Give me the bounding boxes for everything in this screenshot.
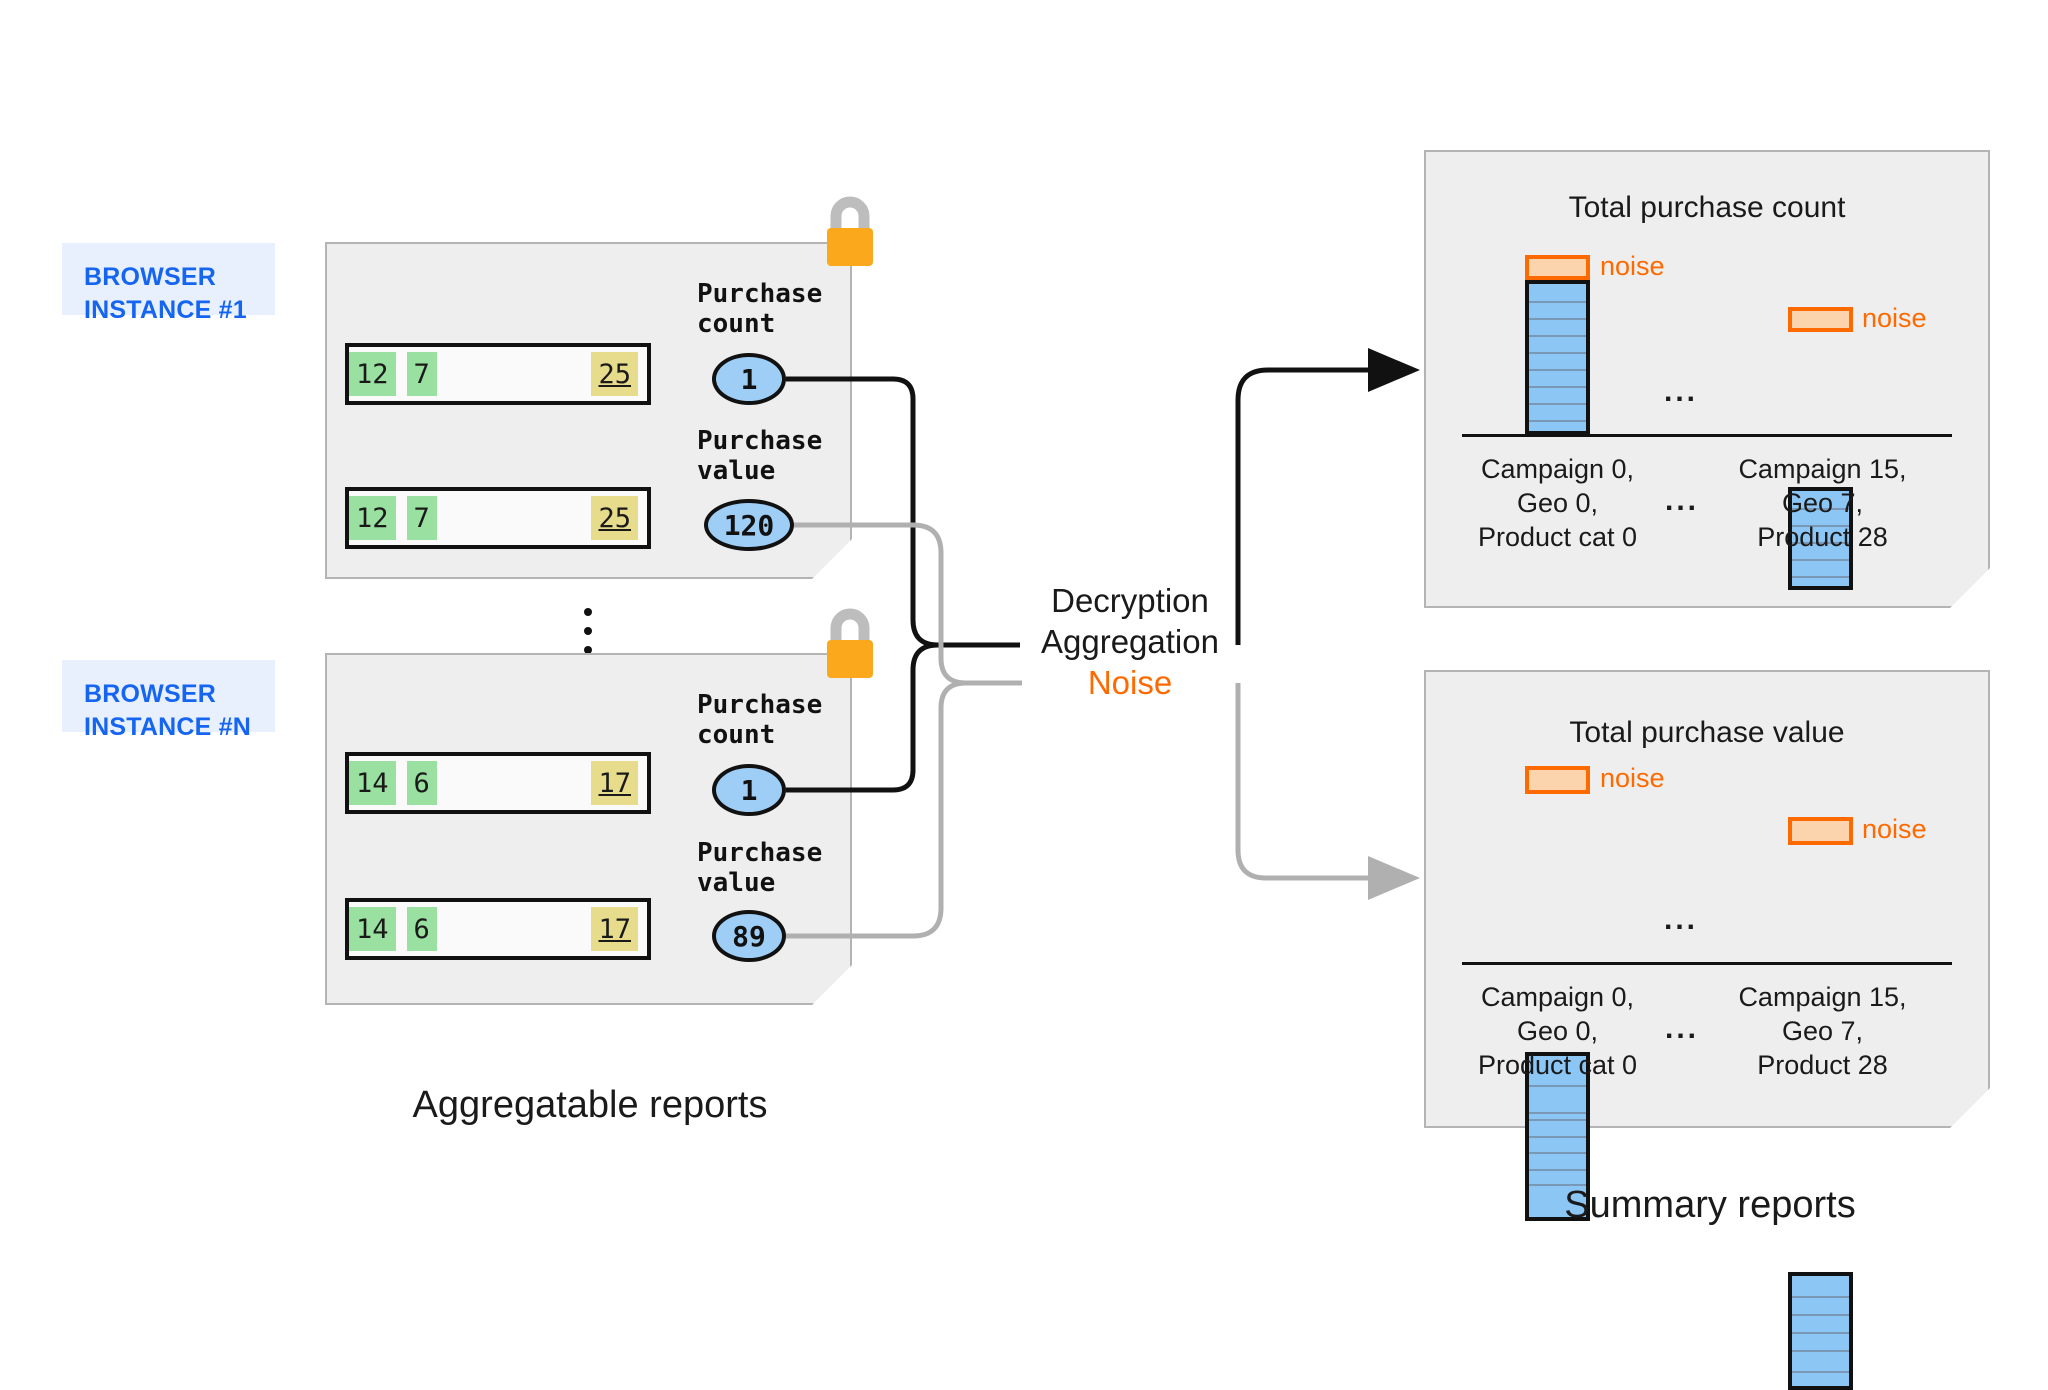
report-cell-value: 25 xyxy=(591,352,638,396)
lock-icon xyxy=(818,602,882,686)
chart-ellipsis-value-bars: ... xyxy=(1664,905,1698,935)
report-cell-key-a: 12 xyxy=(349,352,396,396)
noise-label-count-bar2: noise xyxy=(1862,303,1927,333)
noise-box-count-bar1 xyxy=(1525,255,1590,280)
report-cell-key-b: 7 xyxy=(407,352,437,396)
noise-box-count-bar2 xyxy=(1788,307,1853,332)
chart-title-purchase-count: Total purchase count xyxy=(1424,190,1990,226)
noise-box-value-bar2 xyxy=(1788,817,1853,845)
noise-label-value-bar1: noise xyxy=(1600,763,1665,793)
process-line-noise: Noise xyxy=(1020,662,1240,703)
aggregatable-reports-caption: Aggregatable reports xyxy=(305,1080,875,1130)
report-cell-key-b: 7 xyxy=(407,496,437,540)
process-line-decryption: Decryption xyxy=(1020,580,1240,621)
metric-bubble-purchase-count-1: 1 xyxy=(712,353,786,405)
report-row: 14 6 17 xyxy=(345,898,651,960)
chart-bar-count-1 xyxy=(1525,280,1590,435)
report-row: 12 7 25 xyxy=(345,343,651,405)
summary-reports-caption: Summary reports xyxy=(1430,1180,1990,1230)
report-row: 14 6 17 xyxy=(345,752,651,814)
metric-label-purchase-value-1: Purchase value xyxy=(697,426,877,486)
chart-bar-value-2 xyxy=(1788,1272,1853,1390)
process-line-aggregation: Aggregation xyxy=(1020,621,1240,662)
chart-ellipsis-count-labels: ... xyxy=(1665,486,1699,516)
report-cell-value: 17 xyxy=(591,761,638,805)
chart-title-purchase-value: Total purchase value xyxy=(1424,715,1990,751)
report-cell-value: 25 xyxy=(591,496,638,540)
chart-category-count-2: Campaign 15, Geo 7, Product 28 xyxy=(1725,452,1920,554)
metric-bubble-purchase-value-1: 120 xyxy=(704,499,794,551)
report-cell-key-b: 6 xyxy=(407,761,437,805)
process-label: Decryption Aggregation Noise xyxy=(1020,580,1240,703)
chart-axis-value xyxy=(1462,962,1952,965)
lock-icon xyxy=(818,190,882,274)
metric-bubble-purchase-value-n: 89 xyxy=(712,910,786,962)
chart-category-value-1: Campaign 0, Geo 0, Product cat 0 xyxy=(1460,980,1655,1082)
metric-bubble-purchase-count-n: 1 xyxy=(712,764,786,816)
report-cell-key-a: 14 xyxy=(349,761,396,805)
chart-ellipsis-count-bars: ... xyxy=(1664,377,1698,407)
noise-label-value-bar2: noise xyxy=(1862,814,1927,844)
metric-label-purchase-value-n: Purchase value xyxy=(697,838,877,898)
noise-box-value-bar1 xyxy=(1525,766,1590,794)
report-cell-key-b: 6 xyxy=(407,907,437,951)
report-row: 12 7 25 xyxy=(345,487,651,549)
chart-category-count-1: Campaign 0, Geo 0, Product cat 0 xyxy=(1460,452,1655,554)
metric-label-purchase-count-n: Purchase count xyxy=(697,690,877,750)
browser-instance-n-tag: BROWSER INSTANCE #N xyxy=(62,660,275,732)
metric-label-purchase-count-1: Purchase count xyxy=(697,279,877,339)
browser-instance-1-tag: BROWSER INSTANCE #1 xyxy=(62,243,275,315)
vertical-ellipsis-icon xyxy=(583,608,593,654)
report-cell-key-a: 12 xyxy=(349,496,396,540)
report-cell-key-a: 14 xyxy=(349,907,396,951)
report-cell-value: 17 xyxy=(591,907,638,951)
noise-label-count-bar1: noise xyxy=(1600,251,1665,281)
chart-category-value-2: Campaign 15, Geo 7, Product 28 xyxy=(1725,980,1920,1082)
chart-ellipsis-value-labels: ... xyxy=(1665,1014,1699,1044)
